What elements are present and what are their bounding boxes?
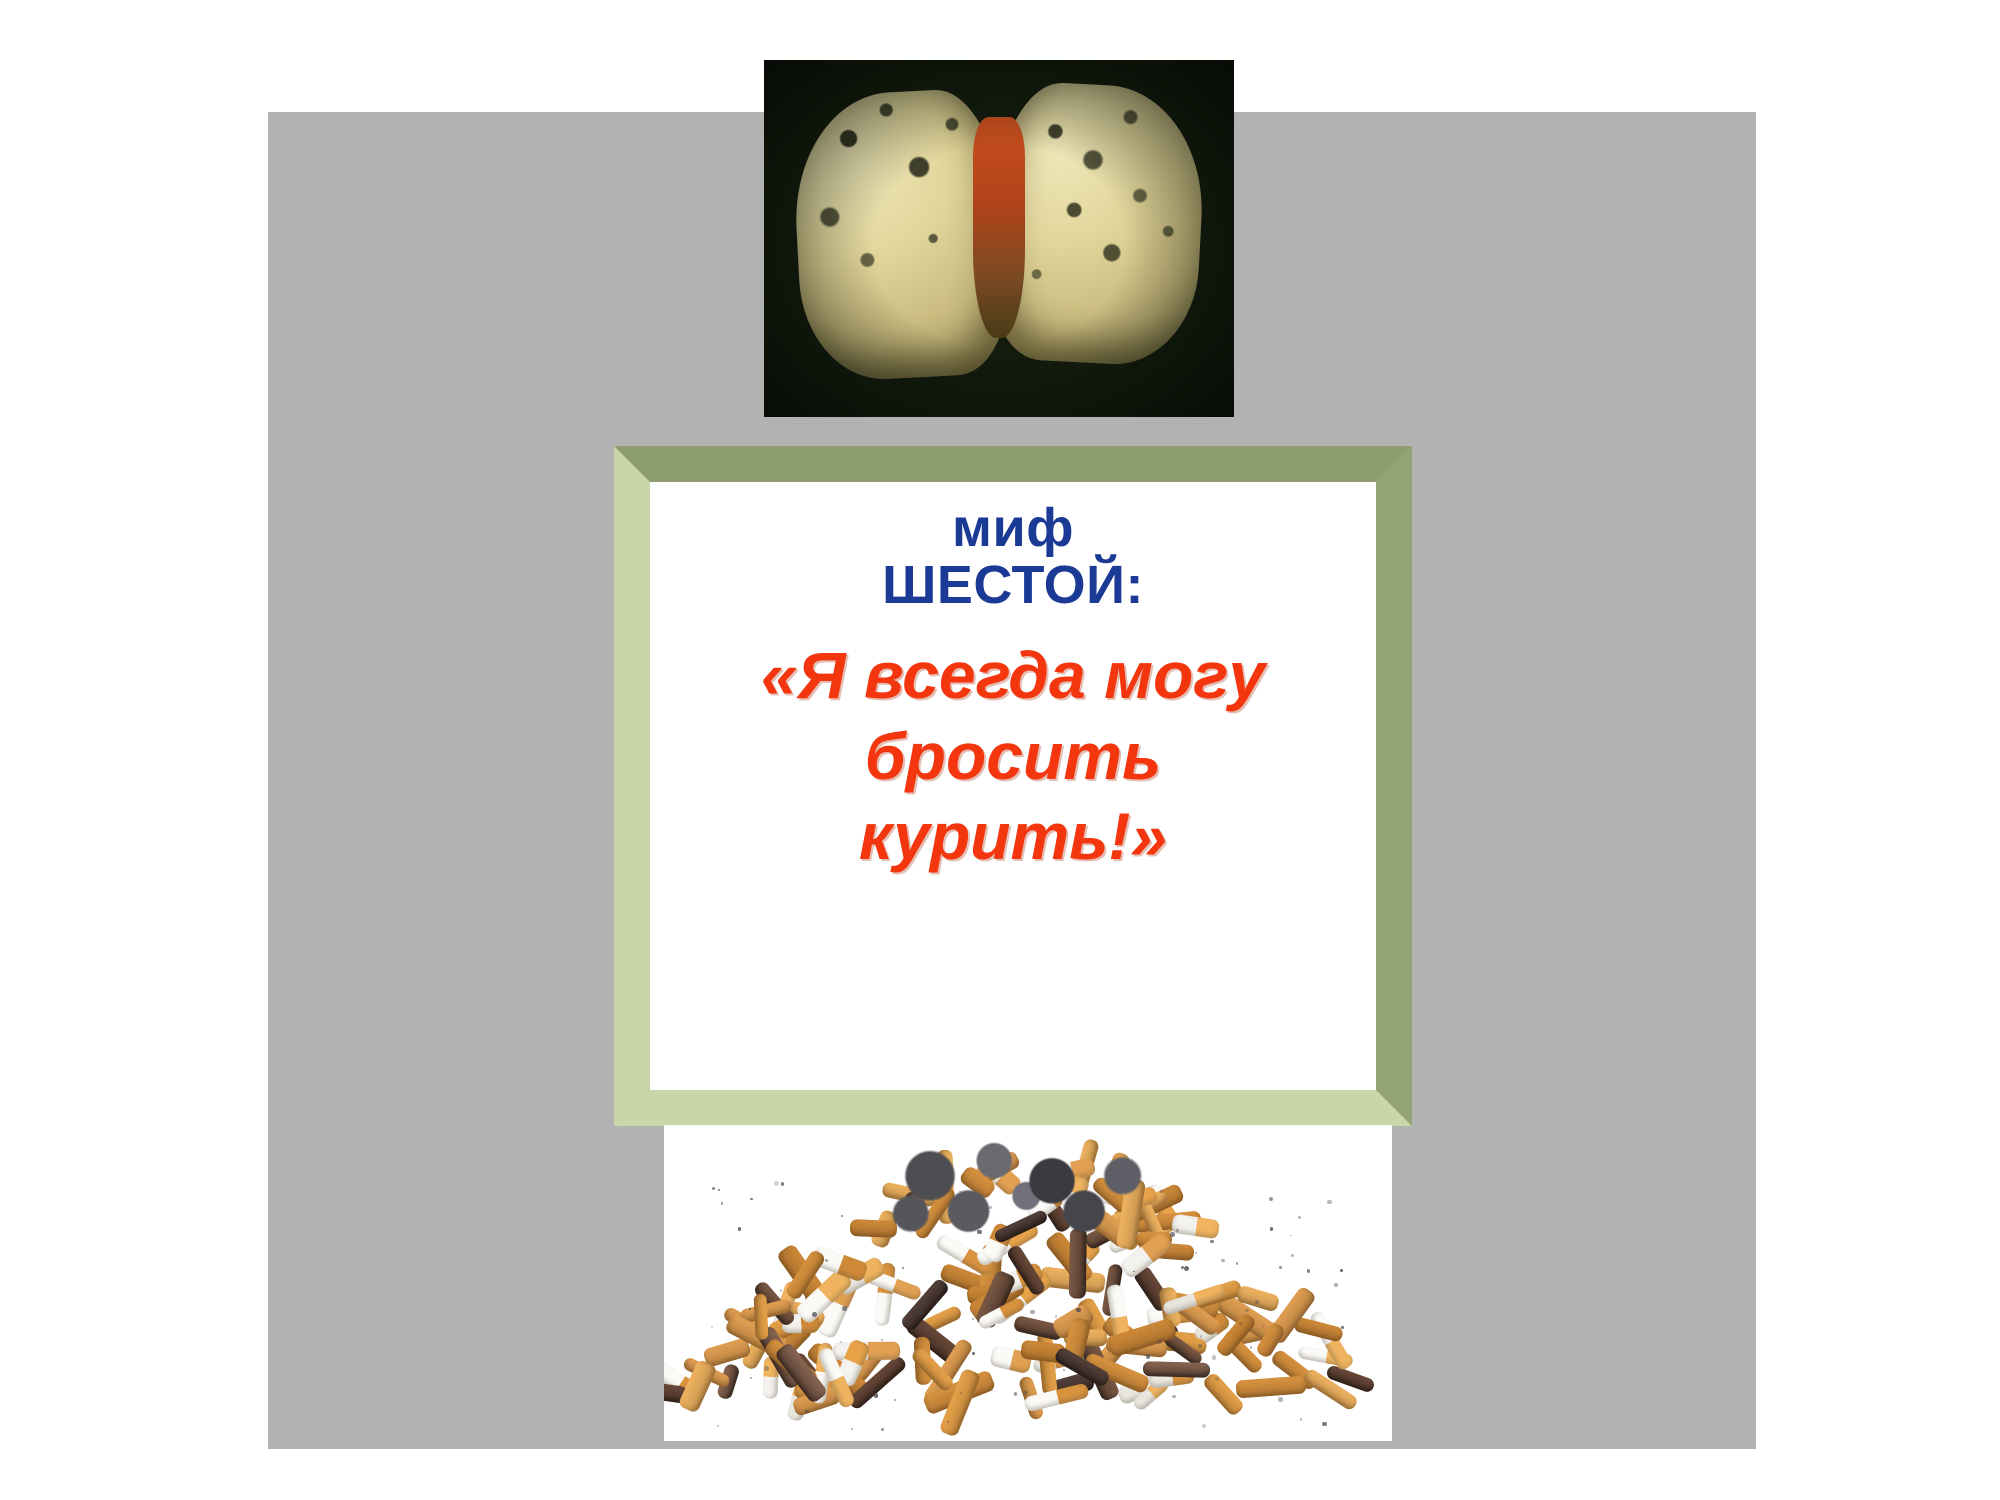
cigarette-butt (1171, 1213, 1220, 1239)
ash-fleck (1340, 1269, 1343, 1272)
ash-fleck (721, 1202, 723, 1204)
ash-fleck (738, 1227, 742, 1231)
cigarette-butt (1143, 1361, 1210, 1378)
ash-fleck (1236, 1262, 1238, 1264)
ash-fleck (841, 1215, 843, 1217)
ash-fleck (812, 1312, 817, 1317)
ash-fleck (1322, 1422, 1327, 1427)
ash-fleck (749, 1308, 751, 1310)
ash-fleck (712, 1187, 715, 1190)
ash-fleck (1307, 1269, 1311, 1273)
ash-fleck (1278, 1397, 1283, 1402)
ash-fleck (764, 1366, 769, 1371)
ash-fleck (894, 1399, 896, 1401)
ash-fleck (1030, 1310, 1034, 1314)
ash-fleck (1195, 1252, 1197, 1254)
slide-canvas: миф ШЕСТОЙ: «Я всегда могу бросить курит… (0, 0, 2000, 1500)
ash-fleck (947, 1421, 949, 1423)
ash-fleck (972, 1318, 974, 1320)
ash-fleck (1184, 1266, 1189, 1271)
ash-fleck (1198, 1344, 1201, 1347)
ash-fleck (1250, 1346, 1253, 1349)
smokers-lung-photo (764, 60, 1234, 417)
ash-fleck (1176, 1229, 1179, 1232)
ash-fleck (1269, 1197, 1273, 1201)
ash-fleck (1157, 1339, 1162, 1344)
ash-fleck (1181, 1266, 1184, 1269)
ash-fleck (919, 1311, 923, 1315)
ash-fleck (718, 1189, 720, 1191)
ash-fleck (781, 1182, 785, 1186)
ash-fleck (711, 1326, 713, 1328)
ash-fleck (1298, 1216, 1301, 1219)
myth-text-frame: миф ШЕСТОЙ: «Я всегда могу бросить курит… (614, 446, 1412, 1126)
ash-fleck (1290, 1235, 1292, 1237)
ash-fleck (1262, 1326, 1264, 1328)
ash-fleck (1212, 1355, 1216, 1359)
ash-fleck (1023, 1391, 1028, 1396)
frame-bevel-top (614, 446, 1412, 482)
ash-fleck (1202, 1424, 1206, 1428)
ash-fleck (972, 1352, 975, 1355)
ash-fleck (1327, 1200, 1331, 1204)
cigarette-butt (753, 1294, 768, 1340)
ash-fleck (1106, 1394, 1108, 1396)
ash-fleck (750, 1198, 752, 1200)
ash-fleck (774, 1181, 779, 1186)
ash-fleck (1215, 1377, 1219, 1381)
ash-fleck (881, 1339, 883, 1341)
ash-fleck (1210, 1240, 1214, 1244)
ash-fleck (1270, 1227, 1273, 1230)
ash-fleck (750, 1377, 752, 1379)
ash-fleck (1200, 1335, 1203, 1338)
ash-fleck (902, 1267, 904, 1269)
ash-fleck (717, 1425, 719, 1427)
ash-fleck (960, 1392, 962, 1394)
myth-quote: «Я всегда могу бросить курить!» (761, 635, 1265, 877)
ash-fleck (1146, 1354, 1151, 1359)
ash-fleck (1334, 1283, 1337, 1286)
ash-cloud (853, 1138, 1173, 1264)
ash-fleck (1063, 1369, 1065, 1371)
ash-fleck (851, 1428, 853, 1430)
ash-fleck (1170, 1232, 1174, 1236)
ash-fleck (1300, 1418, 1303, 1421)
ash-fleck (1172, 1395, 1175, 1398)
ash-fleck (1055, 1315, 1057, 1317)
frame-bevel-bottom (614, 1090, 1412, 1126)
ash-fleck (1057, 1379, 1061, 1383)
cigarette-butt (1236, 1376, 1308, 1399)
frame-bevel-left (614, 446, 650, 1126)
ash-fleck (881, 1428, 884, 1431)
ash-fleck (1221, 1259, 1224, 1262)
frame-bevel-right (1376, 446, 1412, 1126)
ash-fleck (874, 1393, 879, 1398)
myth-heading: миф ШЕСТОЙ: (882, 500, 1144, 613)
cigarette-butts-photo (664, 1125, 1392, 1441)
ash-fleck (1341, 1326, 1344, 1329)
ash-fleck (990, 1304, 993, 1307)
ash-fleck (1279, 1266, 1282, 1269)
myth-text-canvas: миф ШЕСТОЙ: «Я всегда могу бросить курит… (650, 482, 1376, 1090)
ash-fleck (1239, 1322, 1242, 1325)
ash-fleck (1291, 1254, 1295, 1258)
lung-vignette (764, 60, 1234, 417)
ash-fleck (1014, 1392, 1017, 1395)
